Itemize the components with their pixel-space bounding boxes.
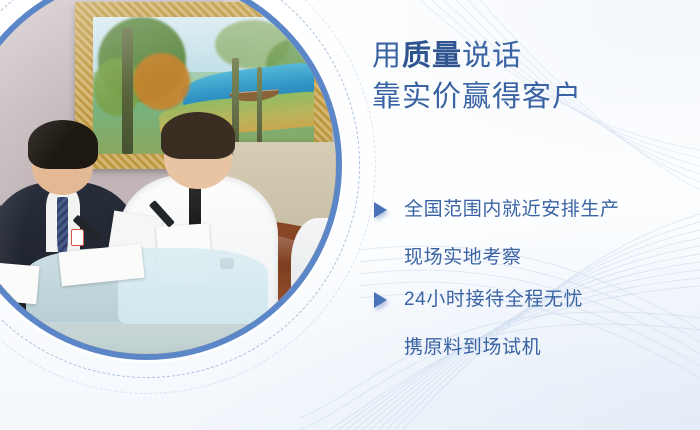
hero-photo <box>0 0 336 354</box>
photo-ring-border <box>0 0 342 360</box>
feature-item: 全国范围内就近安排生产 现场实地考察 <box>372 196 700 272</box>
hero-photo-container <box>0 0 342 360</box>
name-badge <box>71 229 85 246</box>
headline-line-2: 靠实价赢得客户 <box>372 77 700 118</box>
headline-prefix: 用 <box>372 40 402 72</box>
person-arm <box>291 218 336 316</box>
feature-line: 携原料到场试机 <box>404 334 700 362</box>
feature-list: 全国范围内就近安排生产 现场实地考察 24小时接待全程无忧 携原料到场试机 <box>372 196 700 376</box>
meeting-scene <box>0 0 336 354</box>
painting-foliage <box>133 53 190 110</box>
feature-line: 全国范围内就近安排生产 <box>404 196 700 224</box>
feature-line: 24小时接待全程无忧 <box>404 286 700 314</box>
headline-block: 用质量说话 靠实价赢得客户 <box>372 36 700 118</box>
headline-suffix: 说话 <box>462 40 522 72</box>
headline-line-1: 用质量说话 <box>372 36 700 77</box>
person-hair <box>28 120 98 169</box>
feature-text: 24小时接待全程无忧 携原料到场试机 <box>404 286 700 362</box>
painting-tree <box>122 28 133 153</box>
triangle-right-icon <box>374 292 387 308</box>
triangle-right-icon <box>374 202 387 218</box>
content-column: 用质量说话 靠实价赢得客户 全国范围内就近安排生产 现场实地考察 24小时接待全… <box>368 0 700 430</box>
person-right-partial <box>291 218 336 316</box>
person-hair <box>161 112 236 159</box>
feature-item: 24小时接待全程无忧 携原料到场试机 <box>372 286 700 362</box>
feature-text: 全国范围内就近安排生产 现场实地考察 <box>404 196 700 272</box>
headline-emphasis: 质量 <box>402 40 462 72</box>
document-sheet <box>0 260 39 304</box>
promo-banner: 用质量说话 靠实价赢得客户 全国范围内就近安排生产 现场实地考察 24小时接待全… <box>0 0 700 430</box>
feature-line: 现场实地考察 <box>404 244 700 272</box>
